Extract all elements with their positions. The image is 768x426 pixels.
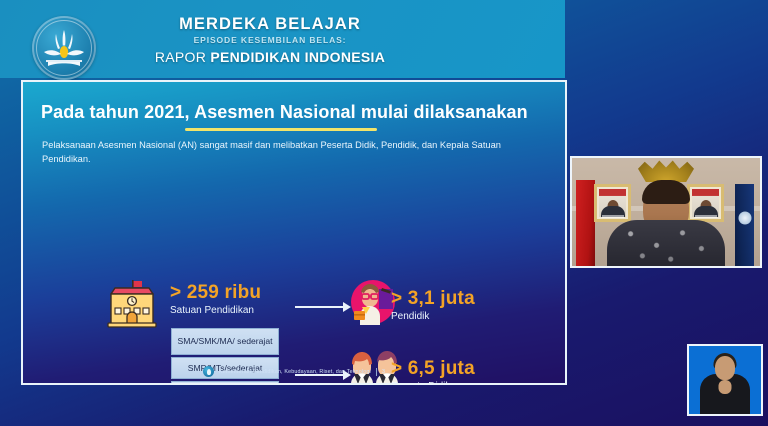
slide-subtitle: Pelaksanaan Asesmen Nasional (AN) sangat…: [42, 138, 542, 166]
speaker-video-tile[interactable]: [570, 156, 762, 268]
teacher-icon: [349, 279, 397, 325]
arrow-to-pendidik-icon: [295, 302, 351, 312]
stat-value: > 259 ribu: [170, 282, 261, 304]
ministry-name: Kementerian Pendidikan, Kebudayaan, Rise…: [219, 369, 371, 375]
interpreter-hand-sign: [719, 380, 732, 394]
header-line3-bold: PENDIDIKAN INDONESIA: [210, 49, 385, 65]
header-title-line3: RAPOR PENDIDIKAN INDONESIA: [105, 48, 435, 67]
interpreter-face: [715, 356, 735, 380]
level-box-sd: SD/MI/sederajat: [171, 381, 279, 385]
footer-divider: [376, 368, 377, 376]
vice-presidential-portrait: [687, 184, 724, 222]
stat-label: Pendidik: [391, 311, 475, 322]
header-title-line1: MERDEKA BELAJAR: [105, 15, 435, 34]
ministry-flag: [735, 184, 754, 266]
header-title-line2: EPISODE KESEMBILAN BELAS:: [105, 34, 435, 46]
school-icon: [105, 280, 159, 328]
ministry-logo-icon: [203, 366, 214, 377]
speaker-video-frame: [572, 158, 760, 266]
slide-content: Pada tahun 2021, Asesmen Nasional mulai …: [21, 80, 567, 385]
speaker-hair: [642, 180, 690, 204]
stat-pendidik: > 3,1 juta Pendidik: [391, 288, 475, 322]
slide-page-number: 3: [382, 369, 385, 375]
speaker-batik-shirt: [607, 220, 725, 266]
presidential-portrait: [594, 184, 631, 222]
presentation-header: MERDEKA BELAJAR EPISODE KESEMBILAN BELAS…: [0, 0, 565, 78]
header-line3-thin: RAPOR: [155, 49, 210, 65]
stat-satuan-pendidikan: > 259 ribu Satuan Pendidikan: [170, 282, 261, 316]
slide-footer: Kementerian Pendidikan, Kebudayaan, Rise…: [23, 366, 565, 377]
sign-language-interpreter-tile[interactable]: [687, 344, 763, 416]
stat-label: Satuan Pendidikan: [170, 305, 261, 316]
indonesia-flag: [576, 180, 595, 266]
stat-value: > 3,1 juta: [391, 288, 475, 310]
slide-title: Pada tahun 2021, Asesmen Nasional mulai …: [41, 102, 528, 123]
tut-wuri-handayani-logo-icon: [32, 16, 96, 80]
stat-label: Peserta Didik: [391, 381, 475, 385]
presentation-screen: MERDEKA BELAJAR EPISODE KESEMBILAN BELAS…: [0, 0, 768, 426]
level-box-sma: SMA/SMK/MA/ sederajat: [171, 328, 279, 355]
title-underline: [185, 128, 377, 131]
interpreter-video-frame: [689, 346, 761, 414]
